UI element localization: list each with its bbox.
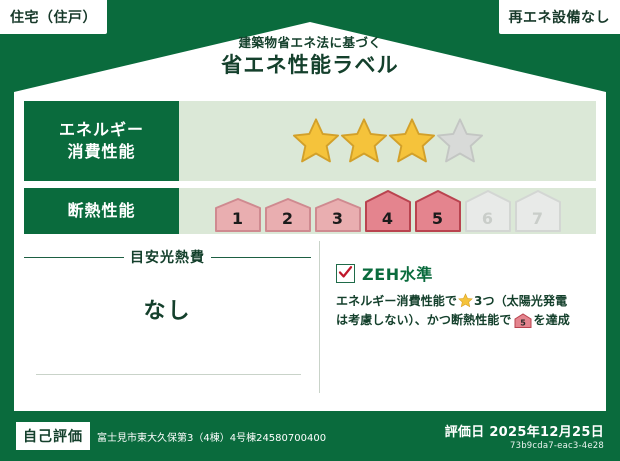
- energy-performance-label: 住宅（住戸） 再エネ設備なし 建築物省エネ法に基づく 省エネ性能ラベル エネルギ…: [0, 0, 620, 461]
- pentagon-shape: [414, 189, 462, 233]
- zeh-desc-part2: 3つ（太陽光発電: [474, 294, 567, 308]
- insulation-level-6: 6: [464, 189, 512, 233]
- footer-bar: 自己評価 富士見市東大久保第3（4棟）4号棟24580700400 評価日 20…: [0, 411, 620, 461]
- utility-cost-heading: 目安光熱費: [24, 247, 311, 267]
- star-list: [290, 116, 486, 166]
- zeh-heading: ZEH水準: [336, 261, 592, 285]
- energy-performance-row: エネルギー 消費性能: [24, 101, 596, 181]
- utility-cost-title: 目安光熱費: [130, 247, 205, 267]
- star-filled-icon: [338, 116, 390, 166]
- insulation-performance-row: 断熱性能 1234567: [24, 188, 596, 234]
- inline-pentagon-icon: 5: [514, 313, 532, 328]
- heading-rule-right: [211, 257, 311, 258]
- energy-star-rating: [179, 101, 596, 181]
- zeh-desc-part4: を達成: [534, 313, 570, 327]
- heading-rule-left: [24, 257, 124, 258]
- energy-performance-label: エネルギー 消費性能: [24, 101, 179, 181]
- star-filled-icon: [386, 116, 438, 166]
- insulation-level-3: 3: [314, 197, 362, 233]
- utility-cost-column: 目安光熱費 なし: [24, 241, 320, 393]
- energy-label-line1: エネルギー: [59, 119, 144, 141]
- evaluation-date-value: 2025年12月25日: [489, 425, 604, 440]
- zeh-desc-part1: エネルギー消費性能で: [336, 294, 457, 308]
- zeh-desc-part3: は考慮しない）、かつ断熱性能で: [336, 313, 512, 327]
- insulation-level-4: 4: [364, 189, 412, 233]
- zeh-title: ZEH水準: [362, 261, 433, 285]
- pentagon-shape: [314, 197, 362, 233]
- svg-text:5: 5: [520, 319, 526, 328]
- building-type-tag: 住宅（住戸）: [0, 0, 107, 34]
- insulation-level-scale: 1234567: [179, 188, 596, 234]
- self-assessment-badge: 自己評価: [16, 422, 90, 450]
- evaluation-date: 評価日 2025年12月25日: [445, 421, 604, 440]
- evaluation-date-label: 評価日: [445, 425, 485, 440]
- zeh-column: ZEH水準 エネルギー消費性能で3つ（太陽光発電 は考慮しない）、かつ断熱性能で…: [320, 241, 596, 393]
- insulation-label-text: 断熱性能: [67, 200, 135, 222]
- insulation-level-1: 1: [214, 197, 262, 233]
- label-body-panel: エネルギー 消費性能 断熱性能 1234567 目安光熱費: [14, 92, 606, 411]
- bottom-section: 目安光熱費 なし ZEH水準 エネルギー消費性能で3つ（太陽光発電: [24, 241, 596, 393]
- star-empty-icon: [434, 116, 486, 166]
- insulation-performance-label: 断熱性能: [24, 188, 179, 234]
- energy-label-line2: 消費性能: [67, 141, 135, 163]
- utility-cost-value: なし: [24, 293, 311, 325]
- pentagon-shape: [464, 189, 512, 233]
- check-icon: [338, 265, 353, 280]
- pentagon-shape: [364, 189, 412, 233]
- insulation-level-5: 5: [414, 189, 462, 233]
- pentagon-shape: [264, 197, 312, 233]
- pentagon-list: 1234567: [214, 189, 562, 233]
- zeh-description: エネルギー消費性能で3つ（太陽光発電 は考慮しない）、かつ断熱性能で5を達成: [336, 292, 592, 330]
- evaluation-info: 評価日 2025年12月25日 73b9cda7-eac3-4e28: [445, 421, 604, 451]
- zeh-checkbox: [336, 264, 355, 283]
- pentagon-shape: [514, 189, 562, 233]
- inline-star-icon: [458, 293, 473, 308]
- evaluation-id: 73b9cda7-eac3-4e28: [445, 441, 604, 451]
- star-filled-icon: [290, 116, 342, 166]
- insulation-level-7: 7: [514, 189, 562, 233]
- property-address: 富士見市東大久保第3（4棟）4号棟24580700400: [97, 429, 445, 444]
- renewable-equipment-tag: 再エネ設備なし: [499, 0, 620, 34]
- utility-cost-underline: [36, 374, 301, 375]
- pentagon-shape: [214, 197, 262, 233]
- insulation-level-2: 2: [264, 197, 312, 233]
